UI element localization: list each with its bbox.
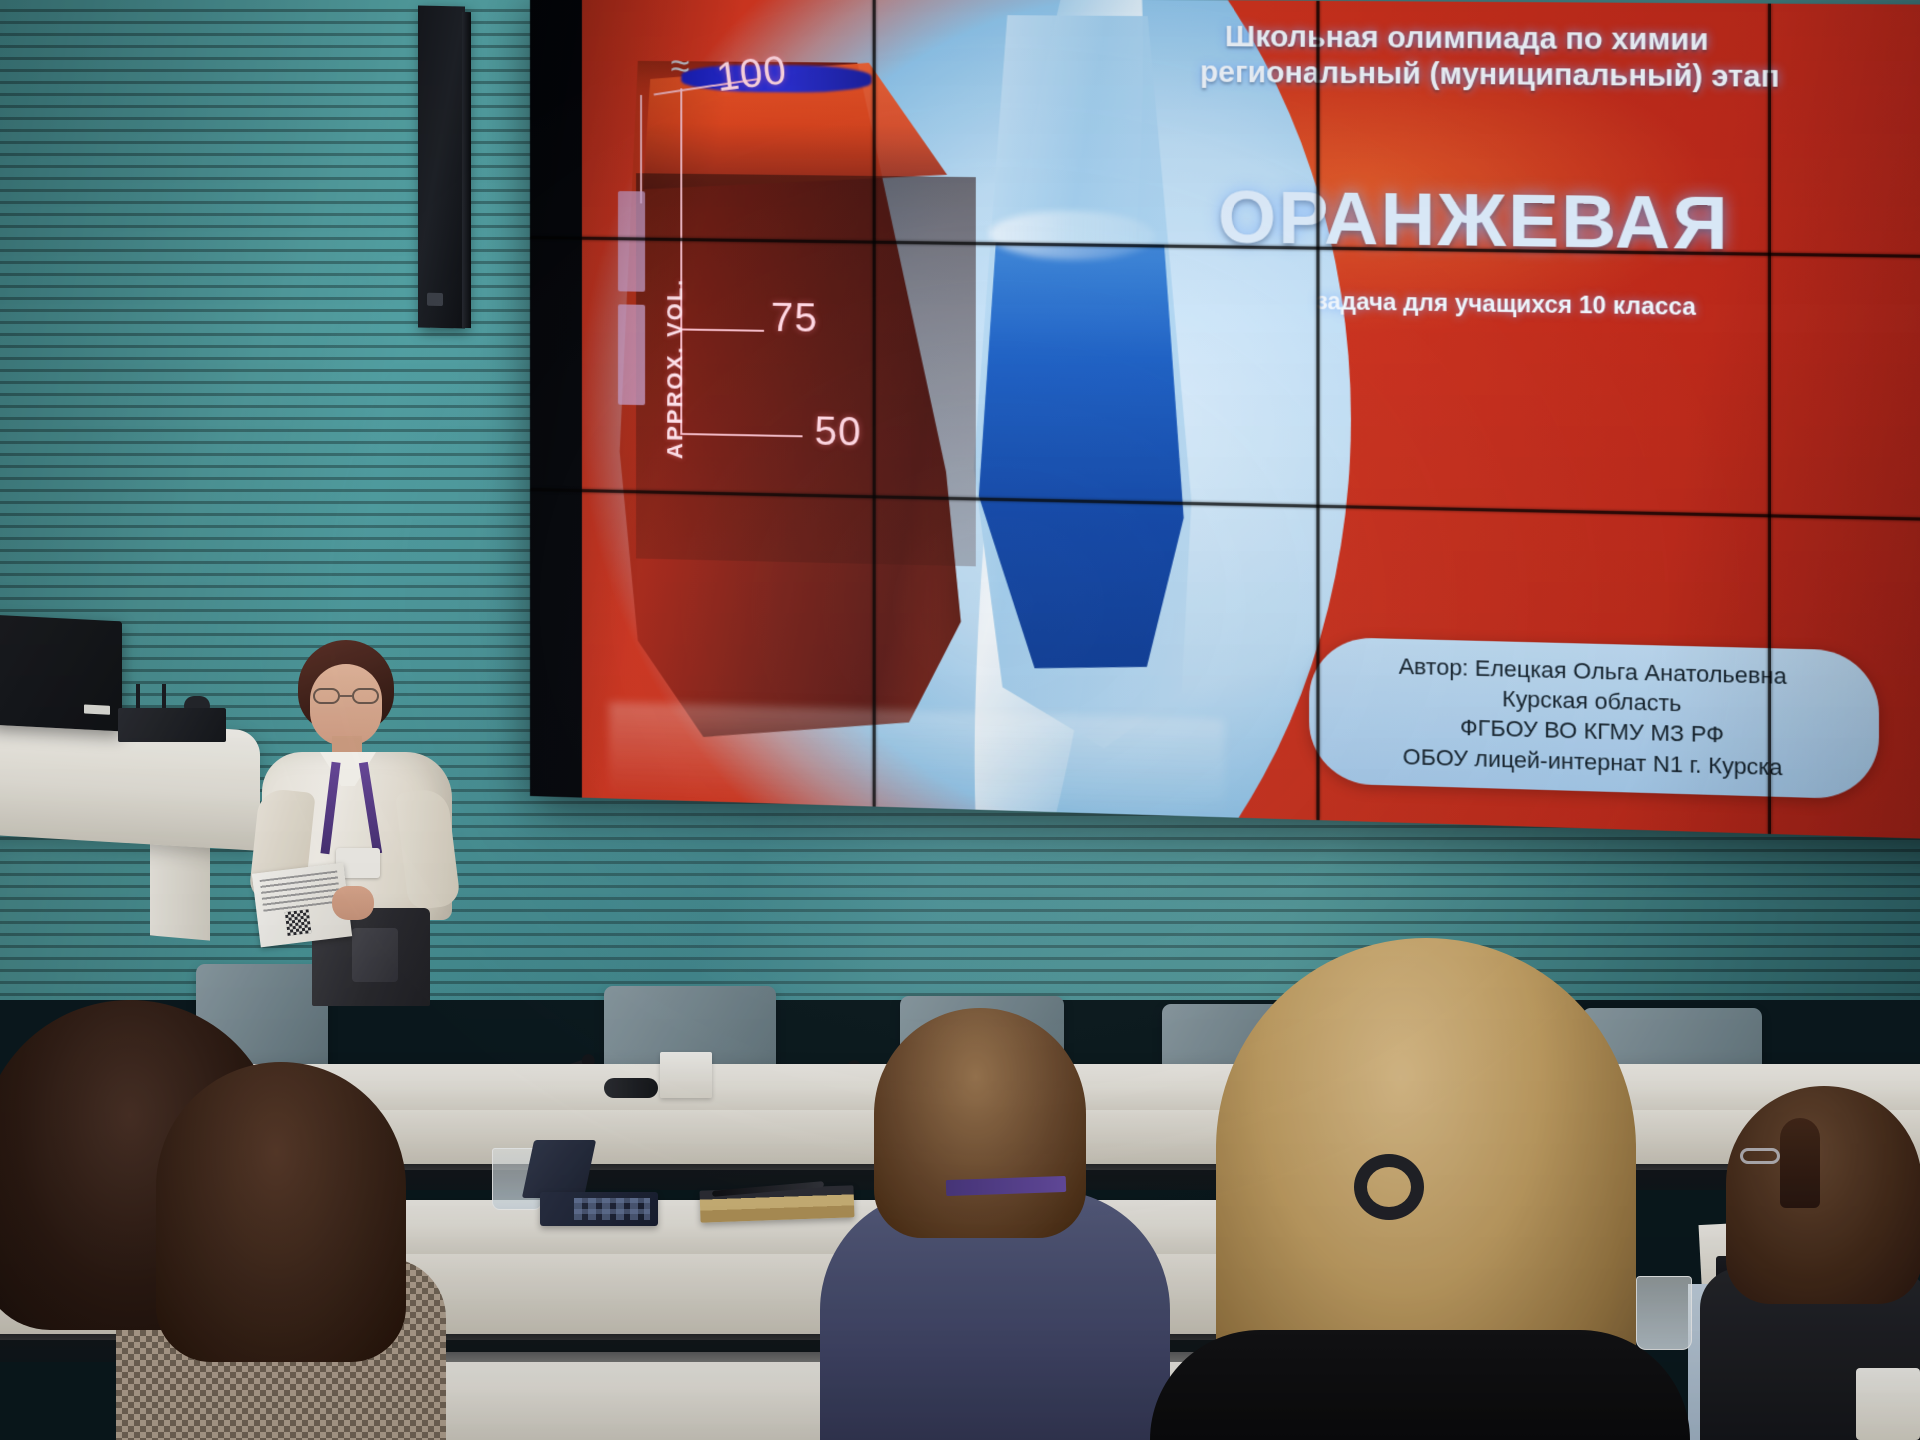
- tissue-box: [660, 1052, 712, 1098]
- presenter: [240, 640, 470, 1000]
- video-wall-inner: ≈ 100 75 50 APPROX. VOL. Школьная олимпи…: [530, 0, 1920, 840]
- panel-seam-vertical-1: [873, 0, 876, 807]
- antenna-icon-2: [162, 684, 166, 710]
- wireless-mic-receiver: [118, 690, 226, 742]
- presenter-skirt-pocket: [352, 928, 398, 982]
- graduation-box-upper: [618, 191, 645, 292]
- presentation-slide: ≈ 100 75 50 APPROX. VOL. Школьная олимпи…: [582, 0, 1920, 840]
- calculator-case-stand: [522, 1140, 596, 1198]
- lecture-hall-scene: ≈ 100 75 50 APPROX. VOL. Школьная олимпи…: [0, 0, 1920, 1440]
- audience-member-brown-hair: [156, 1062, 406, 1362]
- column-speaker: [418, 6, 465, 329]
- graduation-label-75: 75: [771, 296, 818, 342]
- monitor-brand-label: [84, 704, 110, 714]
- plastic-cup-2: [1856, 1368, 1920, 1440]
- led-video-wall: ≈ 100 75 50 APPROX. VOL. Школьная олимпи…: [530, 0, 1920, 840]
- approx-tilde-icon: ≈: [671, 47, 690, 86]
- handheld-microphone: [604, 1078, 658, 1098]
- graduation-box-lower: [618, 305, 645, 406]
- graduation-line-left: [640, 95, 642, 203]
- column-speaker-side: [462, 12, 471, 328]
- flask-reflection: [609, 702, 1225, 817]
- audience-member-blonde-body: [1150, 1330, 1690, 1440]
- audience-member-center-hair: [874, 1008, 1086, 1238]
- confidence-monitor: [0, 615, 122, 732]
- panel-seam-vertical-3: [1768, 4, 1771, 834]
- plastic-cup: [1636, 1276, 1692, 1350]
- slide-subtitle: задача для учащихся 10 класса: [1316, 288, 1696, 322]
- presenter-hand: [332, 886, 374, 920]
- antenna-icon-1: [136, 684, 140, 710]
- presenter-eyeglasses: [313, 688, 379, 704]
- calculator: [540, 1192, 658, 1226]
- calculator-keys: [574, 1198, 650, 1220]
- approx-vol-label: APPROX. VOL.: [663, 277, 689, 459]
- hair-clip-icon: [1354, 1154, 1424, 1220]
- author-info-box: Автор: Елецкая Ольга Анатольевна Курская…: [1309, 636, 1879, 799]
- panel-seam-vertical-2: [1316, 1, 1319, 820]
- audience-member-far-right-hair: [1780, 1118, 1820, 1208]
- graduation-label-50: 50: [814, 409, 861, 455]
- presenter-face: [310, 664, 382, 746]
- receiver-body: [118, 708, 226, 742]
- audience-member-right-hair: [1726, 1086, 1920, 1304]
- slide-kicker-line-2: региональный (муниципальный) этап: [1200, 54, 1780, 97]
- audience-member-right-eyeglasses: [1740, 1148, 1780, 1164]
- video-wall-left-bezel: [530, 0, 582, 798]
- graduation-label-100: 100: [714, 47, 790, 100]
- handout-text-lines: [260, 870, 342, 913]
- qr-code-icon: [285, 909, 312, 936]
- speaker-logo-icon: [427, 293, 443, 306]
